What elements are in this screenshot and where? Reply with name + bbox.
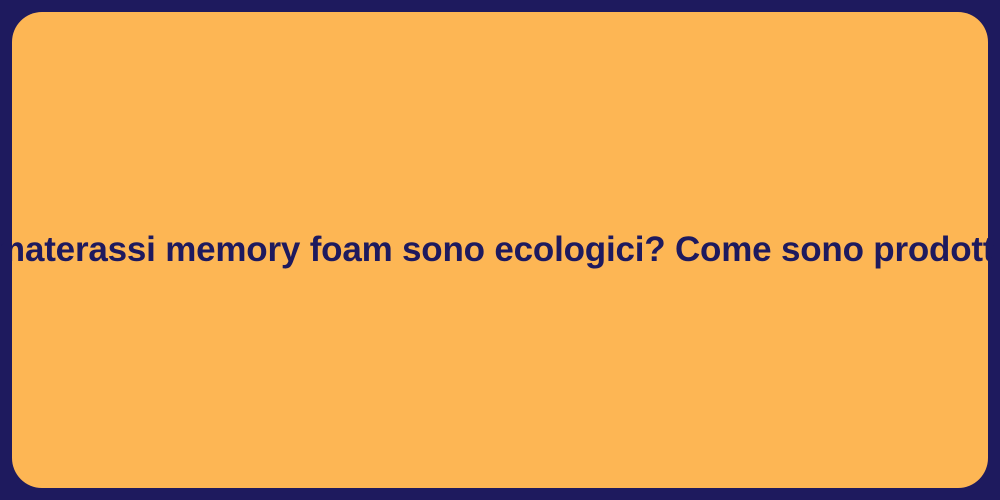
page-title: I materassi memory foam sono ecologici? … [0, 228, 1000, 272]
content-card: I materassi memory foam sono ecologici? … [12, 12, 988, 488]
outer-frame: I materassi memory foam sono ecologici? … [0, 0, 1000, 500]
